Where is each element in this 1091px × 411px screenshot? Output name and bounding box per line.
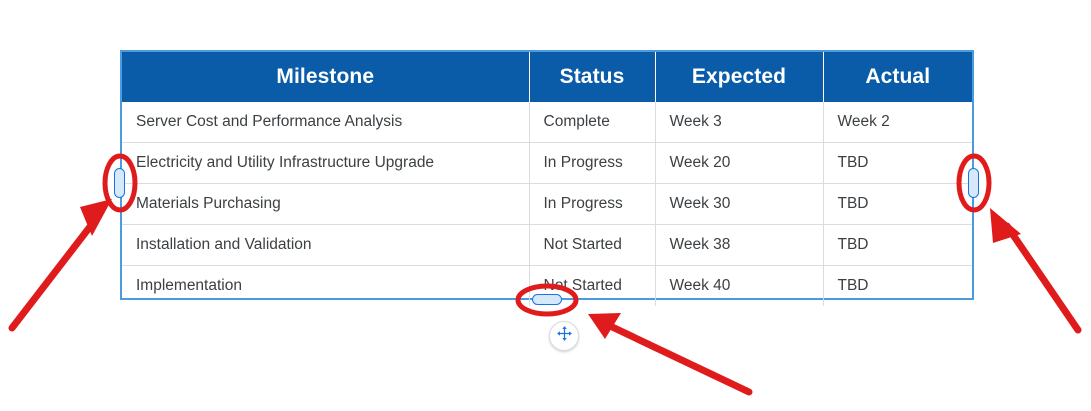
column-header-expected[interactable]: Expected — [655, 52, 823, 102]
cell-status[interactable]: In Progress — [529, 143, 655, 184]
move-four-arrows-icon — [556, 325, 573, 347]
cell-actual[interactable]: TBD — [823, 184, 972, 225]
cell-expected[interactable]: Week 38 — [655, 225, 823, 266]
cell-actual[interactable]: TBD — [823, 143, 972, 184]
table-row[interactable]: Materials Purchasing In Progress Week 30… — [122, 184, 972, 225]
cell-expected[interactable]: Week 20 — [655, 143, 823, 184]
cell-milestone[interactable]: Implementation — [122, 266, 529, 307]
table-row[interactable]: Electricity and Utility Infrastructure U… — [122, 143, 972, 184]
cell-expected[interactable]: Week 3 — [655, 102, 823, 143]
right-resize-handle[interactable] — [968, 168, 979, 198]
bottom-resize-handle[interactable] — [532, 294, 562, 305]
cell-status[interactable]: Not Started — [529, 225, 655, 266]
table-row[interactable]: Installation and Validation Not Started … — [122, 225, 972, 266]
screenshot-canvas: Milestone Status Expected Actual Server … — [0, 0, 1091, 411]
table-row[interactable]: Server Cost and Performance Analysis Com… — [122, 102, 972, 143]
cell-actual[interactable]: TBD — [823, 266, 972, 307]
left-resize-handle[interactable] — [114, 168, 125, 198]
column-header-actual[interactable]: Actual — [823, 52, 972, 102]
cell-status[interactable]: Complete — [529, 102, 655, 143]
cell-status[interactable]: In Progress — [529, 184, 655, 225]
cell-actual[interactable]: TBD — [823, 225, 972, 266]
milestone-table: Milestone Status Expected Actual Server … — [122, 52, 972, 306]
column-header-status[interactable]: Status — [529, 52, 655, 102]
cell-milestone[interactable]: Electricity and Utility Infrastructure U… — [122, 143, 529, 184]
table-body: Server Cost and Performance Analysis Com… — [122, 102, 972, 306]
move-table-button[interactable] — [549, 321, 579, 351]
cell-milestone[interactable]: Installation and Validation — [122, 225, 529, 266]
red-arrow-pointer-left — [12, 199, 112, 328]
cell-milestone[interactable]: Materials Purchasing — [122, 184, 529, 225]
red-arrow-pointer-right — [990, 208, 1078, 330]
table-header: Milestone Status Expected Actual — [122, 52, 972, 102]
cell-expected[interactable]: Week 30 — [655, 184, 823, 225]
table-header-row: Milestone Status Expected Actual — [122, 52, 972, 102]
cell-expected[interactable]: Week 40 — [655, 266, 823, 307]
cell-milestone[interactable]: Server Cost and Performance Analysis — [122, 102, 529, 143]
cell-actual[interactable]: Week 2 — [823, 102, 972, 143]
milestone-table-container[interactable]: Milestone Status Expected Actual Server … — [120, 50, 974, 300]
red-arrow-pointer-bottom — [588, 313, 749, 392]
column-header-milestone[interactable]: Milestone — [122, 52, 529, 102]
